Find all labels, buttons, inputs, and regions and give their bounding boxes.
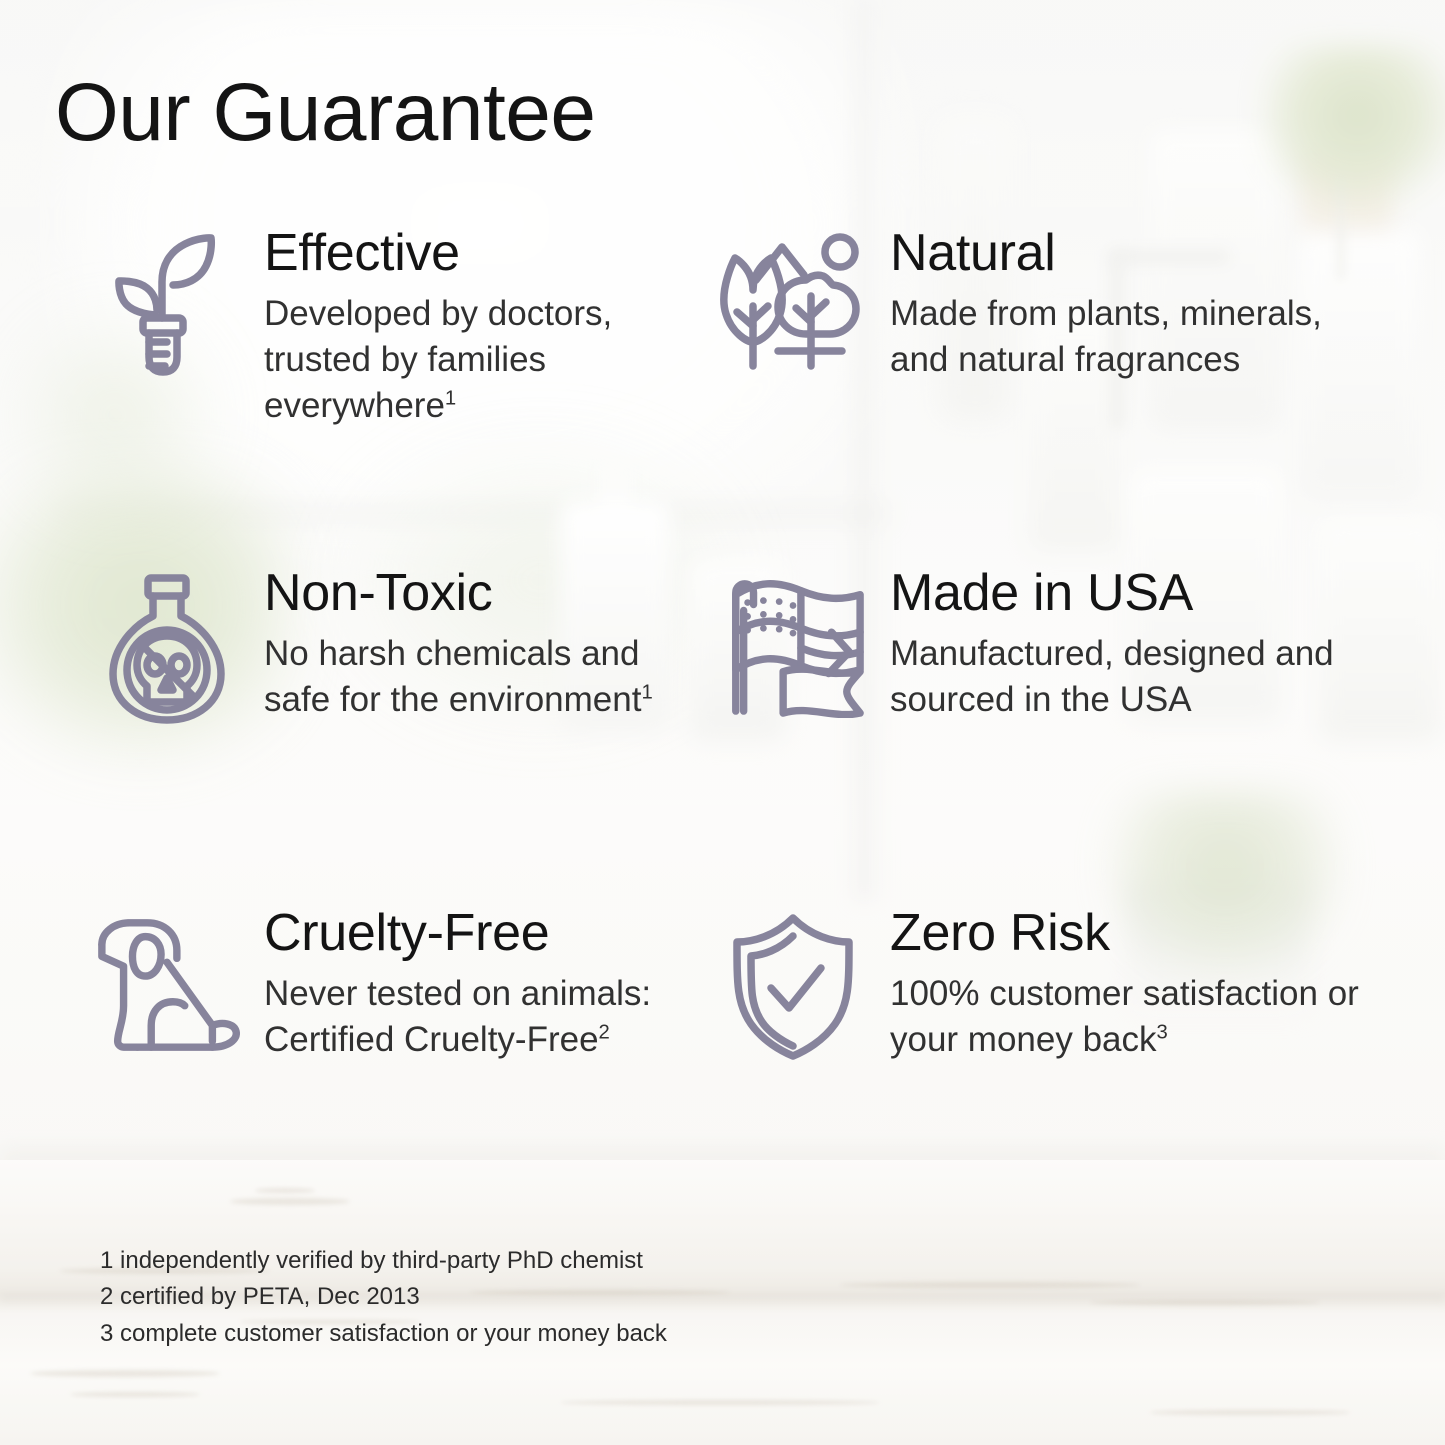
feature-title: Effective (264, 226, 700, 281)
feature-title: Zero Risk (890, 906, 1360, 961)
feature-description: No harsh chemicals and safe for the envi… (264, 631, 700, 723)
usa-flag-icon (718, 564, 868, 714)
feature-text: Zero Risk 100% customer satisfaction or … (890, 904, 1360, 1063)
feature-text: Cruelty-Free Never tested on animals: Ce… (264, 904, 700, 1063)
feature-text: Non-Toxic No harsh chemicals and safe fo… (264, 564, 700, 723)
trees-mountain-sun-icon (718, 224, 868, 374)
footnote-marker: 3 (1157, 1021, 1168, 1043)
feature-cruelty-free: Cruelty-Free Never tested on animals: Ce… (0, 904, 700, 1204)
poison-bottle-skull-icon (92, 564, 242, 714)
feature-text: Made in USA Manufactured, designed and s… (890, 564, 1360, 723)
footnotes: 1 independently verified by third-party … (100, 1243, 667, 1352)
feature-title: Made in USA (890, 566, 1360, 621)
feature-description: Never tested on animals: Certified Cruel… (264, 971, 700, 1063)
feature-text: Effective Developed by doctors, trusted … (264, 224, 700, 429)
feature-title: Cruelty-Free (264, 906, 700, 961)
features-row: Cruelty-Free Never tested on animals: Ce… (0, 904, 1445, 1204)
features-row: Non-Toxic No harsh chemicals and safe fo… (0, 564, 1445, 904)
guarantee-infographic: Our Guarantee (0, 0, 1445, 1445)
feature-natural: Natural Made from plants, minerals, and … (700, 224, 1445, 564)
footnote-marker: 1 (641, 681, 652, 703)
footnote-marker: 2 (599, 1021, 610, 1043)
feature-title: Non-Toxic (264, 566, 700, 621)
feature-description: Developed by doctors, trusted by familie… (264, 291, 700, 430)
feature-effective: Effective Developed by doctors, trusted … (0, 224, 700, 564)
feature-title: Natural (890, 226, 1360, 281)
feature-text: Natural Made from plants, minerals, and … (890, 224, 1360, 383)
feature-made-in-usa: Made in USA Manufactured, designed and s… (700, 564, 1445, 904)
shield-check-icon (718, 904, 868, 1054)
test-tube-leaf-icon (92, 224, 242, 374)
footnote-marker: 1 (445, 387, 456, 409)
features-grid: Effective Developed by doctors, trusted … (0, 224, 1445, 1204)
feature-non-toxic: Non-Toxic No harsh chemicals and safe fo… (0, 564, 700, 904)
footnote-2: 2 certified by PETA, Dec 2013 (100, 1279, 667, 1315)
feature-description: 100% customer satisfaction or your money… (890, 971, 1360, 1063)
page-title: Our Guarantee (55, 72, 595, 154)
features-row: Effective Developed by doctors, trusted … (0, 224, 1445, 564)
feature-description: Made from plants, minerals, and natural … (890, 291, 1360, 383)
footnote-1: 1 independently verified by third-party … (100, 1243, 667, 1279)
feature-description: Manufactured, designed and sourced in th… (890, 631, 1360, 723)
feature-zero-risk: Zero Risk 100% customer satisfaction or … (700, 904, 1445, 1204)
sitting-dog-icon (92, 904, 242, 1054)
footnote-3: 3 complete customer satisfaction or your… (100, 1316, 667, 1352)
